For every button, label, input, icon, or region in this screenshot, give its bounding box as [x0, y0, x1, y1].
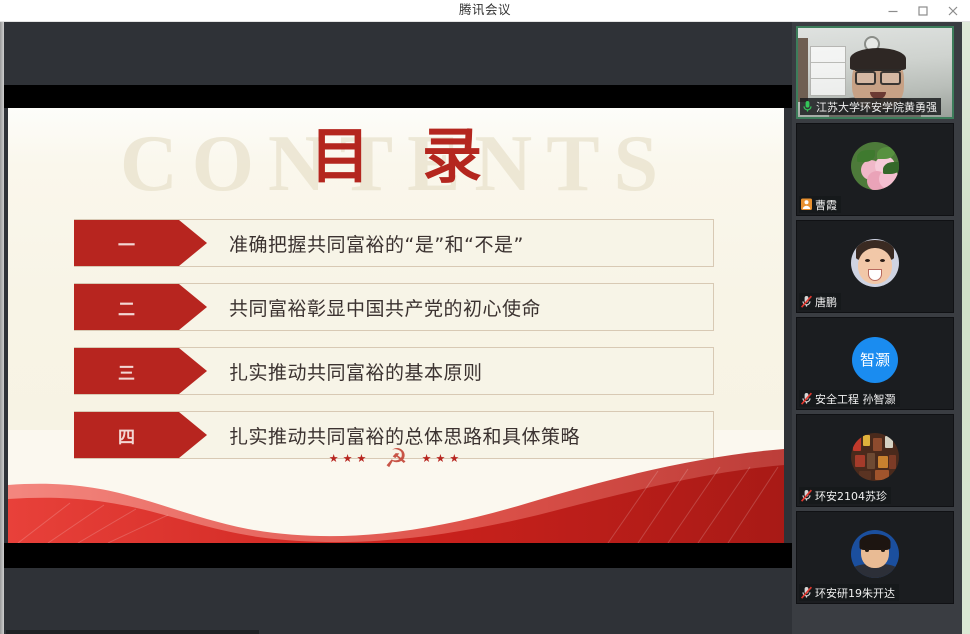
participant-name-badge: 江苏大学环安学院黄勇强 [800, 98, 941, 115]
participant-name-badge: 曹霞 [799, 196, 841, 213]
slide-title: 目录 [8, 126, 784, 189]
participant-tile[interactable]: 环安2104苏珍 [796, 414, 954, 507]
microphone-muted-icon [801, 392, 812, 405]
desktop-edge-strip [962, 22, 970, 634]
toc-label: 扎实推动共同富裕的基本原则 [229, 358, 483, 385]
microphone-muted-icon [801, 295, 812, 308]
microphone-muted-icon [801, 489, 812, 502]
toc-label: 共同富裕彰显中国共产党的初心使命 [229, 294, 541, 321]
toc-number: 一 [118, 231, 135, 256]
avatar-initials: 智灏 [852, 337, 898, 383]
participant-tile[interactable]: 智灏 安全工程 孙智灏 [796, 317, 954, 410]
background-shelf [810, 46, 846, 96]
participant-name-badge: 环安2104苏珍 [799, 487, 891, 504]
participant-sidebar[interactable]: 江苏大学环安学院黄勇强 [792, 22, 970, 634]
close-icon[interactable] [938, 0, 968, 21]
hammer-and-sickle-icon: ☭ [384, 445, 407, 471]
microphone-unmuted-icon [802, 100, 813, 113]
avatar [851, 142, 899, 190]
stage-black-band-top [0, 85, 792, 108]
microphone-muted-icon [801, 586, 812, 599]
window-titlebar: 腾讯会议 [0, 0, 970, 22]
participant-name-badge: 安全工程 孙智灏 [799, 390, 900, 407]
person-hair [850, 48, 906, 70]
maximize-icon[interactable] [908, 0, 938, 21]
minimize-icon[interactable] [878, 0, 908, 21]
stage-black-band-bottom [0, 543, 792, 568]
participant-tile[interactable]: 曹霞 [796, 123, 954, 216]
boy-photo [851, 530, 899, 578]
toc-number-tag: 二 [74, 284, 179, 330]
toc-number: 三 [118, 359, 135, 384]
participant-tile[interactable]: 江苏大学环安学院黄勇强 [796, 26, 954, 119]
participant-name-badge: 环安研19朱开达 [799, 584, 899, 601]
stage-letterbox-bottom [0, 568, 792, 634]
participant-name: 环安2104苏珍 [815, 488, 887, 504]
participant-name: 曹霞 [815, 197, 837, 213]
background-door [798, 38, 808, 102]
participant-tile[interactable]: 环安研19朱开达 [796, 511, 954, 604]
avatar [851, 239, 899, 287]
person-glasses [855, 69, 901, 82]
user-avatar-icon [801, 198, 812, 211]
toc-number: 二 [118, 295, 135, 320]
flower-photo [851, 142, 899, 190]
participant-name: 唐鹏 [815, 294, 837, 310]
tencent-meeting-window: 腾讯会议 CONTENTS 目录 一 [0, 0, 970, 634]
shared-screen-stage[interactable]: CONTENTS 目录 一 准确把握共同富裕的“是”和“不是” 二 共同富裕彰显… [0, 22, 792, 634]
toc-item: 二 共同富裕彰显中国共产党的初心使命 [74, 283, 714, 331]
stars-left-icon: ★★★ [329, 452, 371, 465]
child-photo [851, 239, 899, 287]
screen-share-indicator: 江苏大学环安学院黄勇强的屏幕共享 [6, 630, 259, 634]
participant-name: 环安研19朱开达 [815, 585, 895, 601]
market-photo [851, 433, 899, 481]
toc-number-tag: 三 [74, 348, 179, 394]
stage-letterbox-top [0, 22, 792, 85]
slide-wave-decoration: ★★★ ☭ ★★★ [8, 425, 784, 543]
party-emblem-row: ★★★ ☭ ★★★ [8, 445, 784, 471]
avatar [851, 433, 899, 481]
presentation-slide: CONTENTS 目录 一 准确把握共同富裕的“是”和“不是” 二 共同富裕彰显… [8, 108, 784, 543]
participant-name-badge: 唐鹏 [799, 293, 841, 310]
stars-right-icon: ★★★ [422, 452, 464, 465]
avatar [851, 530, 899, 578]
participant-tile[interactable]: 唐鹏 [796, 220, 954, 313]
toc-number-tag: 一 [74, 220, 179, 266]
toc-item: 三 扎实推动共同富裕的基本原则 [74, 347, 714, 395]
window-controls [878, 0, 968, 21]
participant-name: 江苏大学环安学院黄勇强 [816, 99, 937, 115]
window-left-edge [0, 22, 4, 634]
participant-name: 安全工程 孙智灏 [815, 391, 896, 407]
toc-label: 准确把握共同富裕的“是”和“不是” [229, 230, 524, 257]
window-title: 腾讯会议 [0, 0, 970, 21]
toc-item: 一 准确把握共同富裕的“是”和“不是” [74, 219, 714, 267]
